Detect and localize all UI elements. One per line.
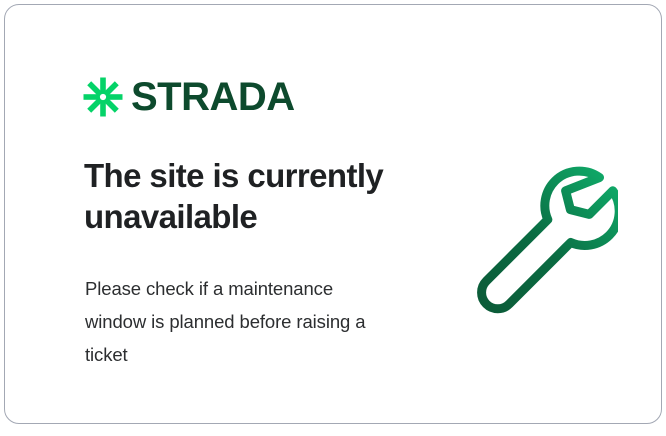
error-page: STRADA The site is currently unavailable… [0, 0, 666, 436]
page-title: The site is currently unavailable [84, 155, 424, 237]
wrench-icon [460, 157, 618, 315]
page-description: Please check if a maintenance window is … [85, 272, 385, 371]
brand-wordmark: STRADA [131, 77, 295, 117]
starburst-asterisk-icon [83, 77, 123, 117]
status-card: STRADA The site is currently unavailable… [4, 4, 662, 424]
brand-logo: STRADA [83, 73, 295, 121]
